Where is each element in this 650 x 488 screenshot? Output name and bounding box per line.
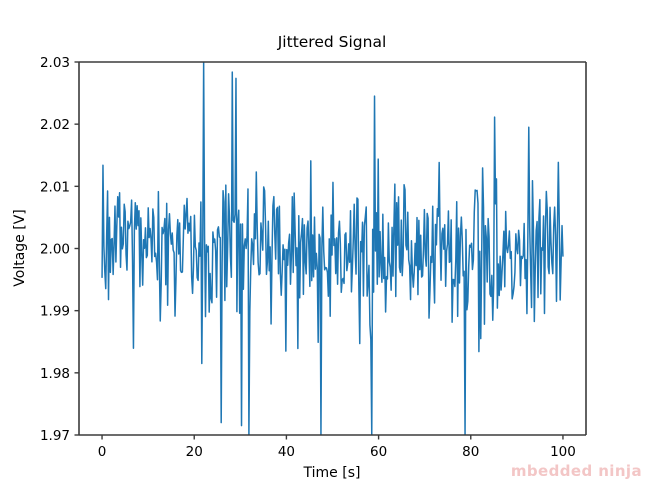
x-tick-label: 40 [278, 444, 295, 460]
figure-canvas: 0204060801001.971.981.992.002.012.022.03… [0, 0, 650, 488]
chart-plot: 0204060801001.971.981.992.002.012.022.03… [0, 0, 650, 488]
y-tick-label: 2.00 [40, 242, 70, 258]
y-tick-label: 2.03 [40, 55, 70, 71]
x-tick-label: 80 [462, 444, 479, 460]
x-tick-label: 20 [186, 444, 203, 460]
y-tick-label: 2.01 [40, 179, 70, 195]
y-tick-label: 1.99 [40, 304, 70, 320]
page-title: Jittered Signal [277, 33, 387, 51]
x-tick-label: 60 [370, 444, 387, 460]
x-axis-label: Time [s] [303, 465, 361, 481]
x-tick-label: 0 [98, 444, 107, 460]
x-tick-label: 100 [550, 444, 576, 460]
watermark: mbedded ninja [511, 462, 642, 480]
y-tick-label: 1.97 [40, 428, 70, 444]
y-axis-label: Voltage [V] [12, 209, 28, 286]
y-tick-label: 2.02 [40, 117, 70, 133]
y-tick-label: 1.98 [40, 366, 70, 382]
